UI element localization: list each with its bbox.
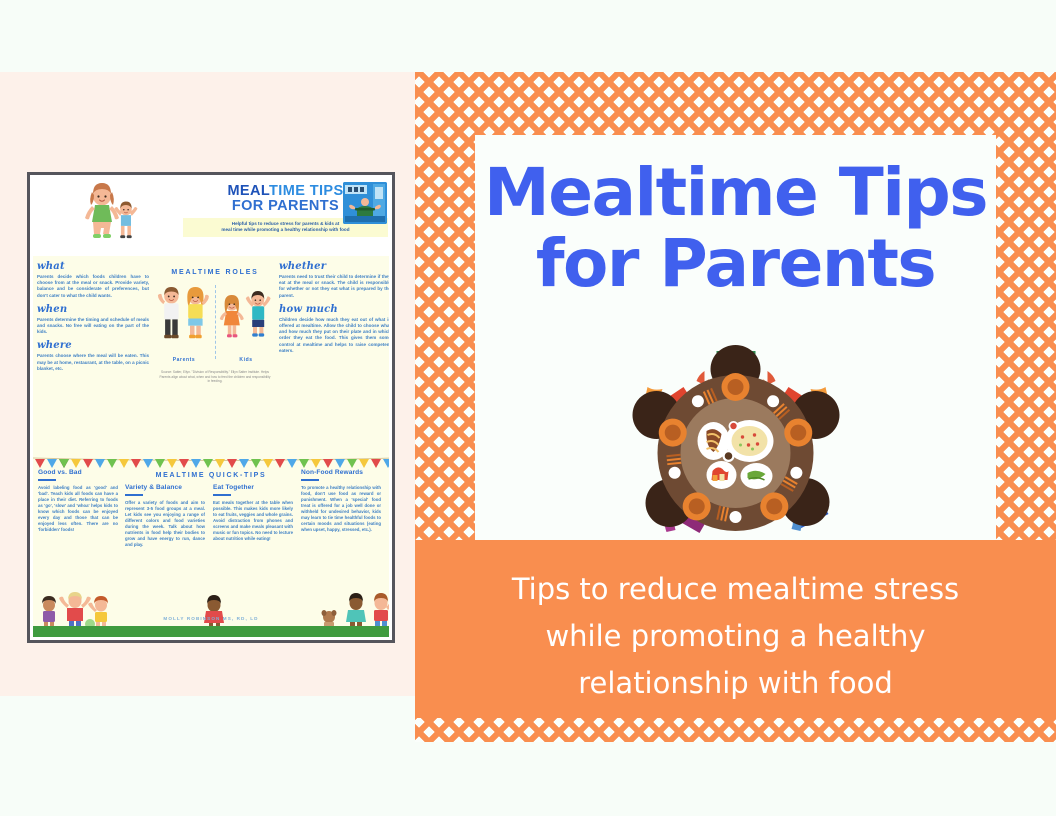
poster-credit: MOLLY ROBINSON MS, RD, LD [33,616,389,621]
poster-title-part-2: TIME TIPS [269,183,344,199]
family-eating-together-icon [213,494,231,496]
mealtime-roles-figures: Parents Kids [153,283,277,361]
section-body-when: Parents determine the timing and schedul… [37,317,149,336]
section-body-what: Parents decide which foods children have… [37,274,149,299]
center-food-dishes [697,420,773,489]
family-dining-table-overhead-illustration [628,343,843,558]
section-heading-where: where [37,340,149,351]
quick-tip-non-food-rewards: Non-Food Rewards To promote a healthy re… [301,469,381,533]
ice-cream-reward-icon [301,479,319,481]
poster-inner-canvas: MEALTIME TIPS FOR PARENTS Helpful tips t… [33,178,389,637]
section-body-whether: Parents need to trust their child to det… [279,274,389,299]
quick-tip-eat-together: Eat Together Eat meals together at the t… [213,484,293,542]
quick-tip-heading: Good vs. Bad [38,469,118,476]
section-body-where: Parents choose where the meal will be ea… [37,353,149,372]
poster-subtitle-line-2: meal time while promoting a healthy rela… [187,227,384,233]
hero-title-line-2: for Parents [475,228,996,299]
section-heading-whether: whether [279,261,389,272]
roles-source-note: Source: Satter, Ellyn. "Division of Resp… [153,370,277,384]
quick-tip-body: Eat meals together at the table when pos… [213,500,293,542]
bunting-divider [33,456,389,469]
good-bad-check-cross-icon [38,479,56,481]
poster-center-column: MEALTIME ROLES [153,260,277,384]
hero-subtitle-line-2: while promoting a healthy [445,613,1026,660]
quick-tip-body: To promote a healthy relationship with f… [301,485,381,533]
quick-tip-good-vs-bad: Good vs. Bad Avoid labeling food as 'goo… [38,469,118,533]
quick-tip-variety-balance: Variety & Balance Offer a variety of foo… [125,484,205,548]
hero-subtitle: Tips to reduce mealtime stress while pro… [445,566,1026,707]
quick-tip-body: Avoid labeling food as 'good' and 'bad'.… [38,485,118,533]
quick-tips-section: MEALTIME QUICK-TIPS Good vs. Bad Avoid l… [33,469,389,597]
roles-label-parents: Parents [159,357,209,363]
roles-divider [215,285,216,359]
quick-tip-heading: Variety & Balance [125,484,205,491]
section-heading-how-much: how much [279,304,389,315]
kid-center [204,595,224,627]
grass-strip [33,626,389,637]
poster-left-column: what Parents decide which foods children… [37,256,149,372]
mother-and-child-illustration [77,182,147,250]
hero-subtitle-line-1: Tips to reduce mealtime stress [445,566,1026,613]
hero-card: Mealtime Tips for Parents [475,135,996,590]
hero-title-line-1: Mealtime Tips [475,157,996,228]
infographic-poster[interactable]: MEALTIME TIPS FOR PARENTS Helpful tips t… [27,172,395,643]
hero-subtitle-band: Tips to reduce mealtime stress while pro… [415,540,1056,718]
poster-right-column: whether Parents need to trust their chil… [279,256,389,354]
kids-group-right [322,593,390,628]
hero-subtitle-line-3: relationship with food [445,660,1026,707]
poster-footer: MOLLY ROBINSON MS, RD, LD [33,581,389,637]
plate-balance-icon [125,494,143,496]
poster-title-part-1: MEAL [227,183,269,199]
hero-title: Mealtime Tips for Parents [475,157,996,299]
hero-panel: Mealtime Tips for Parents [415,72,1056,742]
section-heading-when: when [37,304,149,315]
quick-tip-body: Offer a variety of foods and aim to repr… [125,500,205,548]
roles-label-kids: Kids [221,357,271,363]
poster-header: MEALTIME TIPS FOR PARENTS Helpful tips t… [33,178,389,256]
section-body-how-much: Children decide how much they eat out of… [279,317,389,354]
section-heading-what: what [37,261,149,272]
quick-tip-heading: Eat Together [213,484,293,491]
kids-group-left [42,592,108,629]
mealtime-roles-title: MEALTIME ROLES [153,269,277,276]
poster-body: what Parents decide which foods children… [33,256,389,456]
quick-tip-heading: Non-Food Rewards [301,469,381,476]
cooking-pot-kitchen-logo [343,182,387,224]
